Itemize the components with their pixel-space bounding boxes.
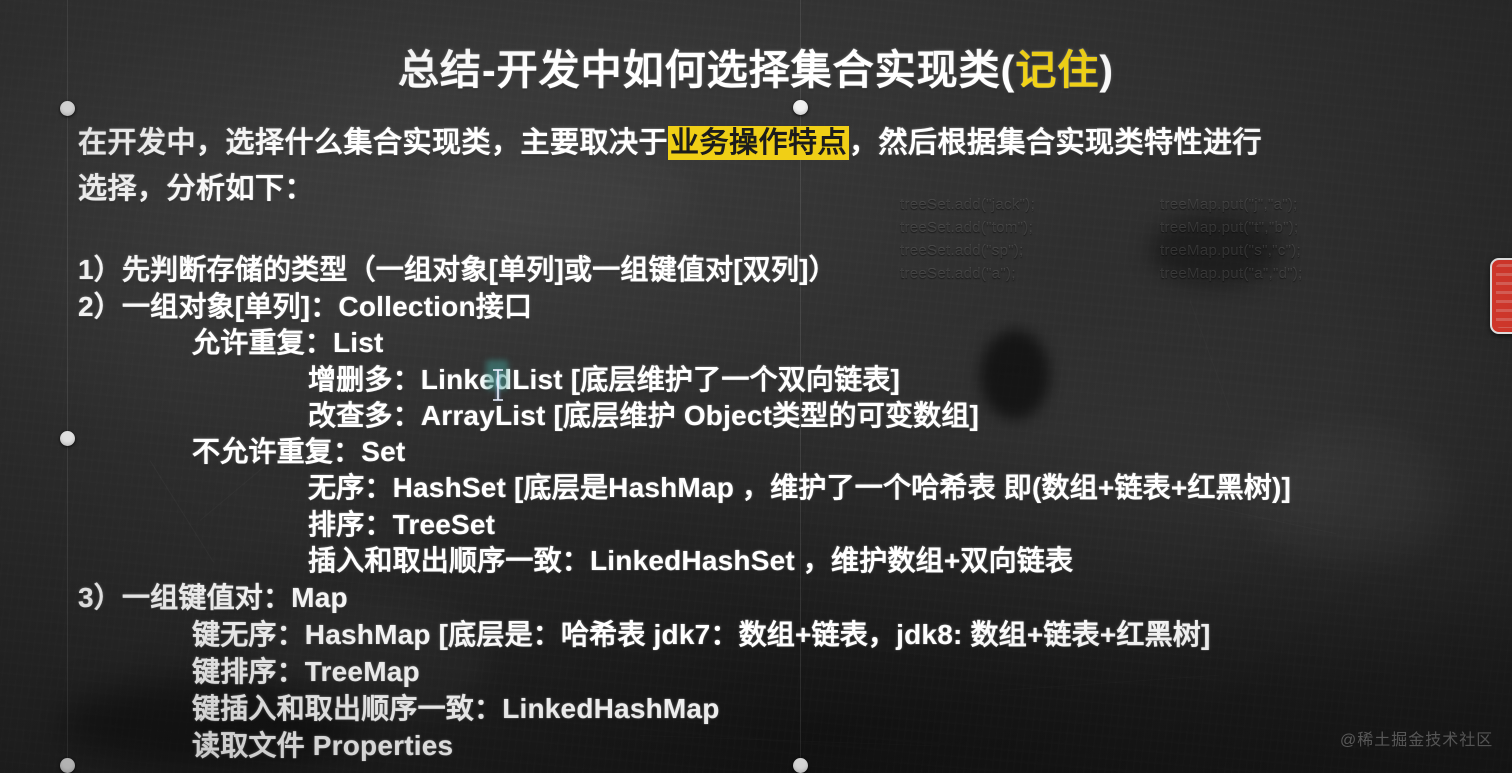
outline-item-linkedhashset: 插入和取出顺序一致：LinkedHashSet ，维护数组+双向链表 [308, 539, 1073, 579]
ghost-code-line: treeSet.add("sp"); [900, 242, 1024, 259]
outline-item-arraylist: 改查多：ArrayList [底层维护 Object类型的可变数组] [308, 394, 979, 434]
ghost-code-line: treeMap.put("s","c"); [1160, 242, 1301, 259]
text-caret-bottom-serif [493, 399, 503, 401]
intro-line-1-after: ，然后根据集合实现类特性进行 [849, 127, 1262, 159]
magnet-dot [793, 100, 808, 115]
outline-item-1: 1）先判断存储的类型（一组对象[单列]或一组键值对[双列]） [78, 248, 837, 288]
page-title-prefix: 总结-开发中如何选择集合实现类( [398, 47, 1015, 93]
outline-item-treeset: 排序：TreeSet [308, 503, 495, 543]
outline-item-3: 3）一组键值对：Map [78, 576, 348, 616]
ghost-code-line: treeSet.add("jack"); [900, 196, 1035, 213]
magnet-dot [60, 431, 75, 446]
magnet-dot [793, 758, 808, 773]
outline-item-set: 不允许重复：Set [192, 430, 405, 470]
ghost-code-line: treeMap.put("j","a"); [1160, 196, 1298, 213]
red-badge-inner [1496, 264, 1512, 328]
intro-line-1: 在开发中，选择什么集合实现类，主要取决于业务操作特点，然后根据集合实现类特性进行 [78, 119, 1262, 161]
text-caret[interactable] [497, 370, 499, 400]
page-title-highlight: 记住 [1015, 47, 1099, 93]
ghost-code-line: treeSet.add("tom"); [900, 219, 1033, 236]
intro-line-2: 选择，分析如下： [78, 165, 314, 207]
outline-item-linkedlist: 增删多：LinkedList [底层维护了一个双向链表] [308, 358, 900, 398]
page-title: 总结-开发中如何选择集合实现类(记住) [0, 36, 1512, 96]
intro-line-1-before: 在开发中，选择什么集合实现类，主要取决于 [78, 127, 668, 159]
magnet-dot [60, 758, 75, 773]
outline-item-hashmap: 键无序：HashMap [底层是：哈希表 jdk7：数组+链表，jdk8: 数组… [192, 613, 1211, 653]
chalkboard-slide: treeSet.add("jack"); treeSet.add("tom");… [0, 0, 1512, 773]
magnet-dot [60, 101, 75, 116]
site-watermark: @稀土掘金技术社区 [1340, 726, 1493, 750]
red-badge-widget[interactable] [1490, 258, 1512, 334]
outline-item-2: 2）一组对象[单列]：Collection接口 [78, 285, 532, 325]
ghost-code-line: treeMap.put("a","d"); [1160, 265, 1303, 282]
intro-highlight-business: 业务操作特点 [668, 126, 849, 160]
outline-item-hashset: 无序：HashSet [底层是HashMap ，维护了一个哈希表 即(数组+链表… [308, 466, 1291, 506]
ghost-code-line: treeSet.add("a"); [900, 265, 1016, 282]
outline-item-treemap: 键排序：TreeMap [192, 650, 420, 690]
page-title-suffix: ) [1099, 47, 1114, 93]
ghost-code-line: treeMap.put("t","b"); [1160, 219, 1298, 236]
outline-item-properties: 读取文件 Properties [192, 724, 453, 764]
outline-item-linkedhashmap: 键插入和取出顺序一致：LinkedHashMap [192, 687, 720, 727]
outline-item-list: 允许重复：List [192, 321, 384, 361]
text-caret-top-serif [493, 369, 503, 371]
